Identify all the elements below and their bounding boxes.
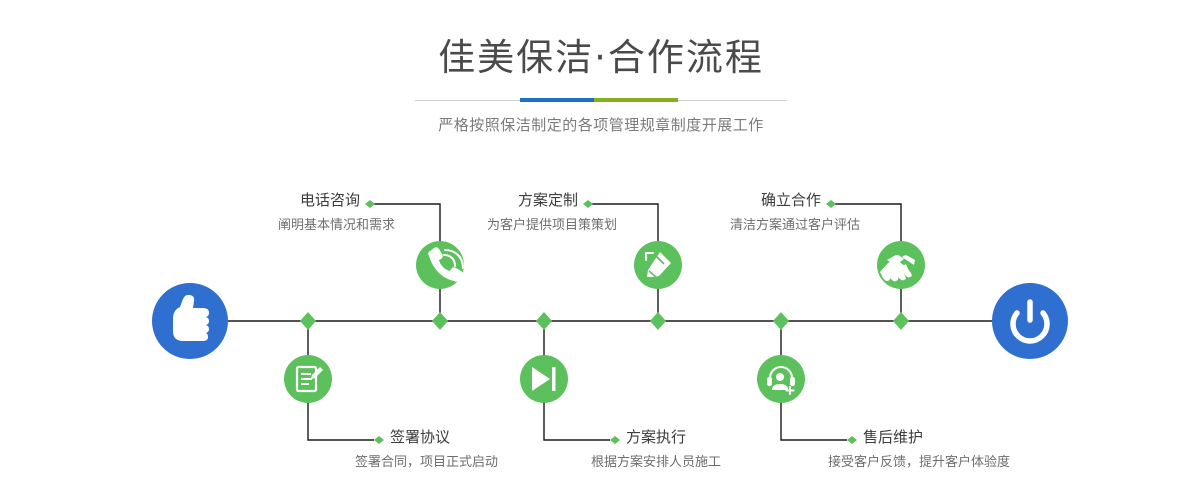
step-4-marker [610,436,620,444]
flow-step-2[interactable]: 签署协议 签署合同，项目正式启动 [284,355,498,470]
step-1-marker [365,200,375,208]
step-3-desc: 为客户提供项目策策划 [487,217,617,233]
timeline-marker-2 [432,312,448,330]
step-3-marker [583,200,593,208]
process-flow-diagram: 电话咨询 阐明基本情况和需求 签署协议 签署合同，项目正式启动 [0,0,1202,502]
step-6-desc: 接受客户反馈，提升客户体验度 [828,454,1010,470]
flow-start-node[interactable] [152,283,228,359]
step-3-title: 方案定制 [518,191,578,209]
step-1-title: 电话咨询 [300,191,360,209]
flow-step-6[interactable]: 售后维护 接受客户反馈，提升客户体验度 [757,355,1010,470]
flow-end-node[interactable] [992,283,1068,359]
timeline-marker-3 [536,312,552,330]
flow-step-4[interactable]: 方案执行 根据方案安排人员施工 [520,355,721,470]
step-5-title: 确立合作 [761,191,821,209]
step-2-desc: 签署合同，项目正式启动 [355,454,498,470]
step-2-marker [374,436,384,444]
step-5-desc: 清洁方案通过客户评估 [730,217,860,233]
step-6-title: 售后维护 [863,428,923,446]
timeline-marker-5 [773,312,789,330]
flow-step-5[interactable]: 确立合作 清洁方案通过客户评估 [730,191,925,289]
timeline-marker-4 [650,312,666,330]
step-2-title: 签署协议 [390,428,450,446]
infographic-canvas: 佳美保洁·合作流程 严格按照保洁制定的各项管理规章制度开展工作 [0,0,1202,502]
timeline-marker-1 [300,312,316,330]
step-5-marker [826,200,836,208]
step-1-desc: 阐明基本情况和需求 [278,218,395,233]
flow-step-3[interactable]: 方案定制 为客户提供项目策策划 [487,191,682,289]
flow-step-1[interactable]: 电话咨询 阐明基本情况和需求 [278,191,464,289]
step-6-marker [847,436,857,444]
timeline-marker-6 [893,312,909,330]
step-4-desc: 根据方案安排人员施工 [591,454,721,470]
step-4-title: 方案执行 [626,428,686,446]
